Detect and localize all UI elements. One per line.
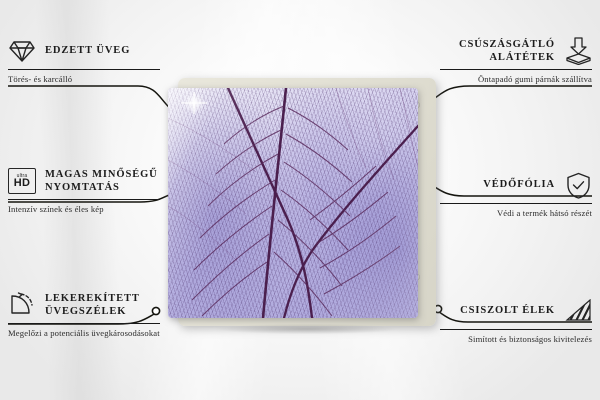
feature-title: MAGAS MINŐSÉGŰ NYOMTATÁS	[45, 168, 160, 194]
feature-header: VÉDŐFÓLIA	[440, 170, 592, 200]
connector-path-tempered-glass	[8, 86, 178, 114]
press-pad-icon	[564, 37, 592, 65]
product-shadow	[182, 322, 432, 336]
leaf-vein-overlay	[168, 88, 418, 318]
rounded-corner-icon	[8, 291, 36, 319]
feature-title: CSISZOLT ÉLEK	[460, 304, 555, 317]
feature-header: ultra HD MAGAS MINŐSÉGŰ NYOMTATÁS	[8, 166, 160, 196]
product-infographic: EDZETT ÜVEG Törés- és karcálló ultra HD …	[0, 0, 600, 400]
feature-rule	[440, 203, 592, 204]
feature-high-quality-print: ultra HD MAGAS MINŐSÉGŰ NYOMTATÁS Intenz…	[8, 166, 160, 216]
feature-header: CSÚSZÁSGÁTLÓ ALÁTÉTEK	[440, 36, 592, 66]
feature-tempered-glass: EDZETT ÜVEG Törés- és karcálló	[8, 36, 160, 86]
feature-description: Intenzív színek és éles kép	[8, 204, 160, 216]
diamond-icon	[8, 37, 36, 65]
ultra-hd-icon: ultra HD	[8, 167, 36, 195]
feature-header: LEKEREKÍTETT ÜVEGSZÉLEK	[8, 290, 160, 320]
feature-rule	[8, 69, 160, 70]
connector-path-antislip	[432, 86, 592, 100]
glass-panel	[168, 88, 418, 318]
feature-protective-film: VÉDŐFÓLIA Védi a termék hátsó részét	[440, 170, 592, 220]
feature-anti-slip-pads: CSÚSZÁSGÁTLÓ ALÁTÉTEK Öntapadó gumi párn…	[440, 36, 592, 86]
feature-description: Öntapadó gumi párnák szállítva	[440, 74, 592, 86]
feature-rounded-glass-edges: LEKEREKÍTETT ÜVEGSZÉLEK Megelőzi a poten…	[8, 290, 160, 340]
feature-title: LEKEREKÍTETT ÜVEGSZÉLEK	[45, 292, 160, 318]
feature-rule	[440, 329, 592, 330]
feature-header: CSISZOLT ÉLEK	[440, 296, 592, 326]
shield-check-icon	[564, 171, 592, 199]
feature-title: VÉDŐFÓLIA	[483, 178, 555, 191]
feature-polished-edges: CSISZOLT ÉLEK Simított és biztonságos ki…	[440, 296, 592, 346]
feature-rule	[8, 199, 160, 200]
feature-title: EDZETT ÜVEG	[45, 44, 130, 57]
feature-rule	[440, 69, 592, 70]
hatched-triangle-icon	[564, 297, 592, 325]
feature-header: EDZETT ÜVEG	[8, 36, 160, 66]
hatched-triangle-shape	[564, 299, 592, 323]
feature-description: Simított és biztonságos kivitelezés	[440, 334, 592, 346]
feature-rule	[8, 323, 160, 324]
ultra-hd-icon-main-label: HD	[14, 178, 31, 189]
feature-title: CSÚSZÁSGÁTLÓ ALÁTÉTEK	[440, 38, 555, 64]
feature-description: Védi a termék hátsó részét	[440, 208, 592, 220]
product-image	[168, 78, 436, 326]
feature-description: Törés- és karcálló	[8, 74, 160, 86]
feature-description: Megelőzi a potenciális üvegkárosodásokat	[8, 328, 160, 340]
